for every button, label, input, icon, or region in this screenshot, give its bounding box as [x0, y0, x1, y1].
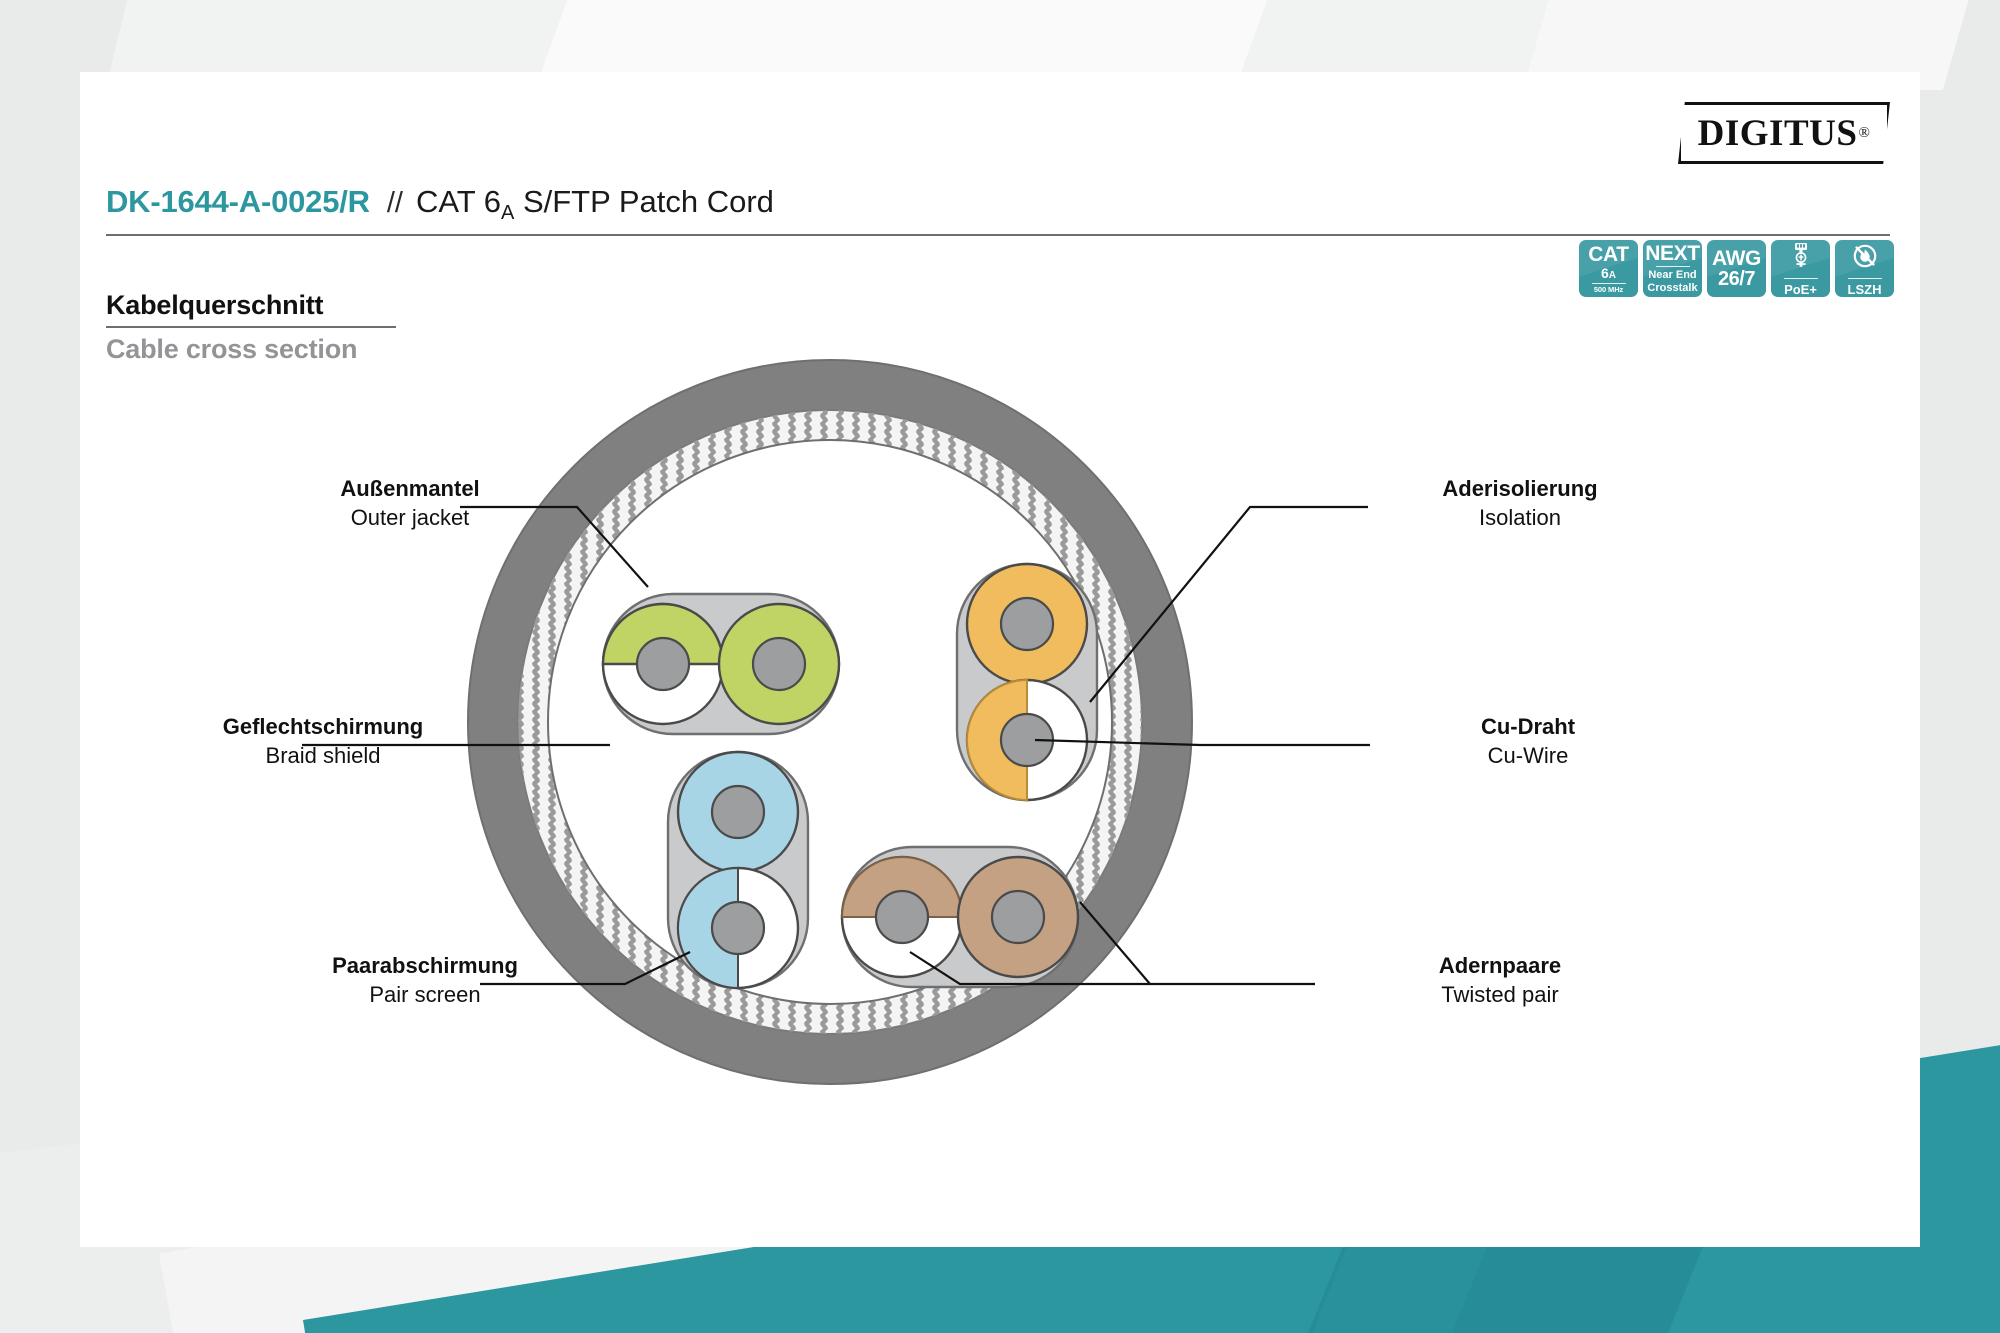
- logo-text: DIGITUS: [1698, 112, 1858, 155]
- pair-green: [603, 594, 839, 734]
- title-row: DK-1644-A-0025/R // CAT 6A S/FTP Patch C…: [106, 184, 1890, 236]
- cable-cross-section-diagram: [80, 262, 1920, 1162]
- callout-isolation-de: Aderisolierung: [1400, 477, 1640, 502]
- cu-wire-orange-a: [1001, 598, 1053, 650]
- callout-pair-screen: Paarabschirmung Pair screen: [300, 954, 550, 1007]
- content-card: DIGITUS® DK-1644-A-0025/R // CAT 6A S/FT…: [80, 72, 1920, 1247]
- callout-braid-shield-en: Braid shield: [198, 744, 448, 769]
- cu-wire-brown-b: [992, 891, 1044, 943]
- callout-braid-shield-de: Geflechtschirmung: [198, 715, 448, 740]
- title-separator: //: [387, 187, 403, 220]
- cu-wire-blue-b: [712, 902, 764, 954]
- cu-wire-blue-a: [712, 786, 764, 838]
- title-underline: [106, 234, 1890, 236]
- pair-orange: [957, 564, 1097, 800]
- registered-mark-icon: ®: [1858, 125, 1870, 142]
- logo-wordmark: DIGITUS®: [1678, 102, 1890, 164]
- callout-pair-screen-de: Paarabschirmung: [300, 954, 550, 979]
- callout-pair-screen-en: Pair screen: [300, 983, 550, 1008]
- digitus-logo: DIGITUS®: [1678, 102, 1890, 164]
- callout-isolation-en: Isolation: [1400, 506, 1640, 531]
- cu-wire-brown-a: [876, 891, 928, 943]
- callout-cu-wire-en: Cu-Wire: [1428, 744, 1628, 769]
- product-desc-prefix: CAT 6: [416, 184, 501, 219]
- callout-outer-jacket-en: Outer jacket: [310, 506, 510, 531]
- callout-cu-wire: Cu-Draht Cu-Wire: [1428, 715, 1628, 768]
- cu-wire-green-a: [637, 638, 689, 690]
- product-desc-subscript: A: [501, 202, 514, 224]
- callout-outer-jacket-de: Außenmantel: [310, 477, 510, 502]
- cu-wire-green-b: [753, 638, 805, 690]
- callout-twisted-pair-en: Twisted pair: [1380, 983, 1620, 1008]
- pair-brown: [842, 847, 1078, 987]
- callout-twisted-pair-de: Adernpaare: [1380, 954, 1620, 979]
- callout-cu-wire-de: Cu-Draht: [1428, 715, 1628, 740]
- page-canvas: DIGITUS® DK-1644-A-0025/R // CAT 6A S/FT…: [0, 0, 2000, 1333]
- callout-braid-shield: Geflechtschirmung Braid shield: [198, 715, 448, 768]
- callout-isolation: Aderisolierung Isolation: [1400, 477, 1640, 530]
- product-desc-suffix: S/FTP Patch Cord: [514, 184, 774, 219]
- product-description: CAT 6A S/FTP Patch Cord: [416, 184, 774, 225]
- callout-outer-jacket: Außenmantel Outer jacket: [310, 477, 510, 530]
- product-sku: DK-1644-A-0025/R: [106, 184, 370, 220]
- callout-twisted-pair: Adernpaare Twisted pair: [1380, 954, 1620, 1007]
